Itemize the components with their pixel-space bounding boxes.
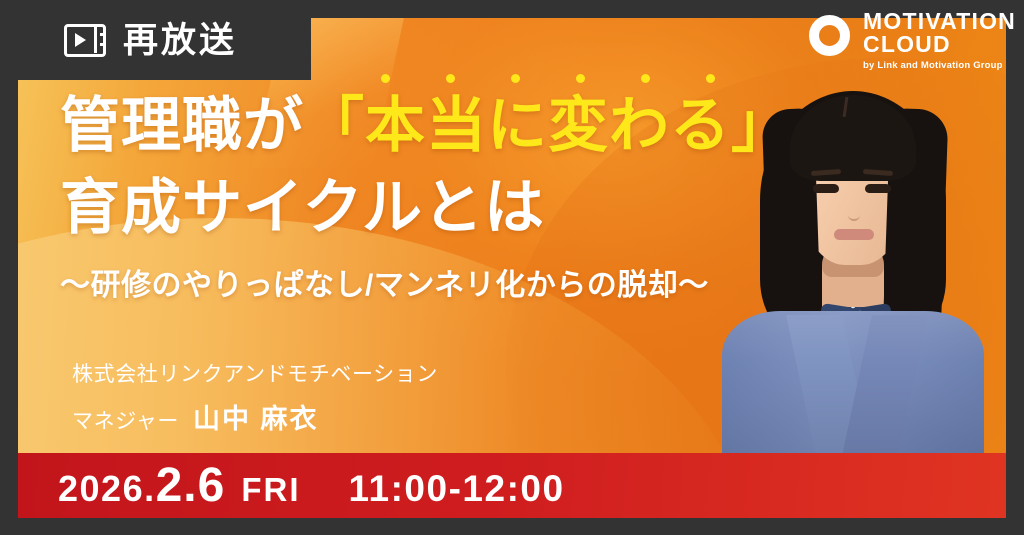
portrait-nose: [848, 203, 860, 221]
headline-quote-open: 「: [304, 92, 365, 159]
date-time-range: 11:00-12:00: [349, 468, 565, 510]
headline-line-2: 育成サイクルとは: [60, 178, 792, 238]
portrait-eye-left: [813, 184, 839, 193]
portrait-eye-right: [865, 184, 891, 193]
webinar-banner: 再放送 MOTIVATION CLOUD by Link and Motivat…: [0, 0, 1024, 535]
portrait-lips: [834, 229, 874, 240]
video-play-icon-divider: [94, 27, 97, 53]
speaker-name: 山中 麻衣: [193, 404, 319, 434]
brand-logo-tagline: by Link and Motivation Group: [863, 61, 1016, 71]
brand-logo-line2: CLOUD: [863, 33, 1016, 56]
headline-block: 管理職が「本当に変わる」 育成サイクルとは 〜研修のやりっぱなし/マンネリ化から…: [60, 96, 792, 304]
video-play-icon-triangle: [75, 33, 86, 47]
video-play-icon-dot-bottom: [100, 43, 104, 47]
replay-badge-label: 再放送: [123, 23, 237, 58]
speaker-organization: 株式会社リンクアンドモチベーション: [72, 358, 438, 388]
headline-quote-close: 」: [731, 92, 792, 159]
video-play-icon-dot-top: [100, 33, 104, 37]
headline-line1-prefix: 管理職が: [60, 92, 304, 159]
speaker-identity: マネジャー山中 麻衣: [72, 397, 438, 436]
headline-accent-phrase: 本当に変わる: [365, 96, 731, 156]
date-bar: 2026. 2.6 FRI 11:00-12:00: [18, 453, 1006, 518]
video-play-icon: [64, 24, 106, 57]
speaker-title: マネジャー: [72, 410, 179, 433]
brand-logo-line1: MOTIVATION: [863, 10, 1016, 33]
portrait-blazer-shading: [722, 311, 984, 475]
motivation-cloud-ring-icon: [809, 15, 850, 56]
headline-line-1: 管理職が「本当に変わる」: [60, 96, 792, 156]
brand-logo: MOTIVATION CLOUD by Link and Motivation …: [809, 10, 1016, 71]
subheadline: 〜研修のやりっぱなし/マンネリ化からの脱却〜: [60, 260, 792, 304]
speaker-credit: 株式会社リンクアンドモチベーション マネジャー山中 麻衣: [72, 358, 438, 436]
date-bar-content: 2026. 2.6 FRI 11:00-12:00: [58, 458, 565, 513]
brand-logo-wordmark: MOTIVATION CLOUD by Link and Motivation …: [863, 10, 1016, 71]
date-year: 2026.: [58, 468, 156, 510]
date-day-of-week: FRI: [241, 471, 300, 509]
replay-badge: 再放送: [0, 0, 311, 80]
replay-badge-inner: 再放送: [64, 23, 237, 58]
headline-accent-text: 本当に変わる: [365, 92, 731, 159]
date-month-day: 2.6: [156, 458, 226, 513]
